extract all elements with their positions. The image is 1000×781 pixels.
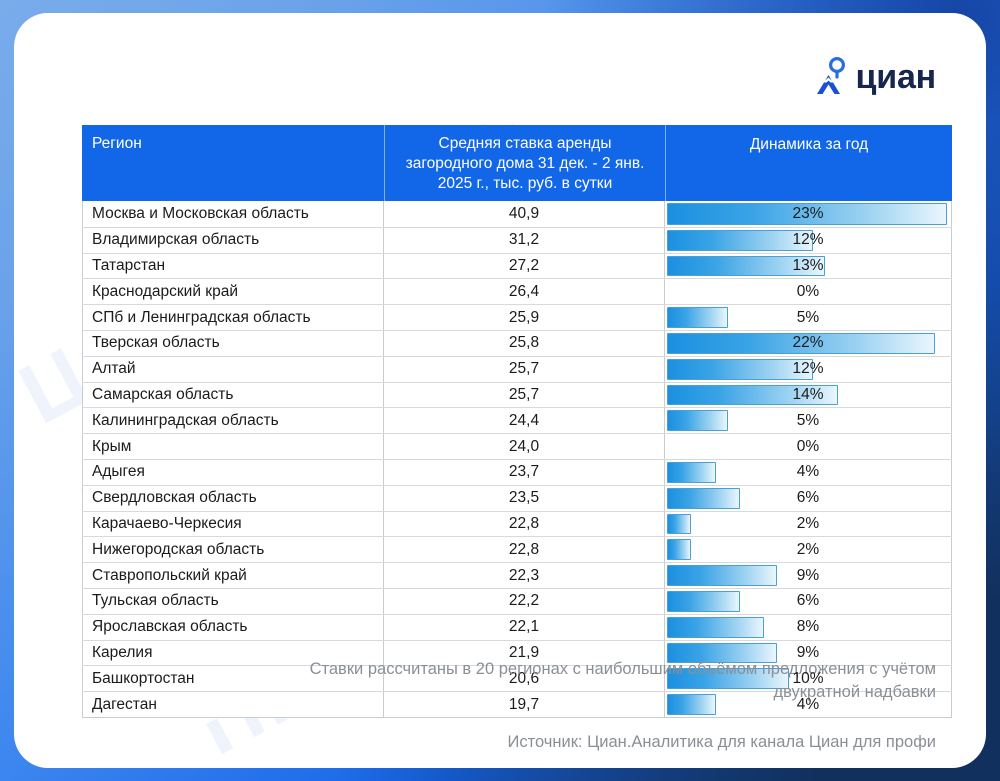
table-row: Калининградская область24,45% (82, 407, 952, 433)
cell-rate: 22,8 (384, 512, 665, 537)
dynamics-bar (667, 617, 764, 638)
cell-region: Татарстан (82, 254, 384, 279)
dynamics-value: 22% (792, 334, 823, 352)
cell-rate: 40,9 (384, 201, 665, 227)
cell-dynamics: 0% (665, 279, 952, 304)
table-row: Адыгея23,74% (82, 459, 952, 485)
dynamics-value: 6% (797, 592, 819, 610)
infographic-root: циан Циан Циан Циан Циан Циан Циан Циан … (0, 0, 1000, 781)
dynamics-bar (667, 514, 691, 535)
column-header-region: Регион (82, 125, 384, 201)
cell-dynamics: 6% (665, 589, 952, 614)
cell-dynamics: 0% (665, 434, 952, 459)
table-row: Татарстан27,213% (82, 253, 952, 279)
cell-rate: 25,7 (384, 383, 665, 408)
dynamics-bar (667, 410, 728, 431)
cell-rate: 23,7 (384, 460, 665, 485)
cell-dynamics: 4% (665, 460, 952, 485)
table-header-row: Регион Средняя ставка аренды загородного… (82, 125, 952, 201)
cell-rate: 22,2 (384, 589, 665, 614)
cell-region: Свердловская область (82, 486, 384, 511)
dynamics-bar (667, 307, 728, 328)
column-header-rate: Средняя ставка аренды загородного дома 3… (384, 125, 665, 201)
cell-region: Алтай (82, 357, 384, 382)
cell-region: Карачаево-Черкесия (82, 512, 384, 537)
footnotes: Ставки рассчитаны в 20 регионах с наибол… (276, 658, 936, 754)
dynamics-value: 8% (797, 618, 819, 636)
cell-rate: 23,5 (384, 486, 665, 511)
rates-table: Регион Средняя ставка аренды загородного… (82, 125, 952, 718)
table-body: Москва и Московская область40,923%Владим… (82, 201, 952, 718)
content-card: циан Циан Циан Циан Циан Циан Циан Циан … (14, 13, 986, 768)
source-note: Источник: Циан.Аналитика для канала Циан… (276, 731, 936, 754)
cell-dynamics: 22% (665, 331, 952, 356)
table-row: Самарская область25,714% (82, 382, 952, 408)
table-row: Карачаево-Черкесия22,82% (82, 511, 952, 537)
cell-rate: 24,4 (384, 408, 665, 433)
table-row: Ставропольский край22,39% (82, 562, 952, 588)
dynamics-value: 2% (797, 541, 819, 559)
dynamics-value: 4% (797, 696, 819, 714)
cell-rate: 22,8 (384, 537, 665, 562)
dynamics-value: 2% (797, 515, 819, 533)
dynamics-value: 0% (797, 283, 819, 301)
dynamics-value: 4% (797, 463, 819, 481)
cell-dynamics: 14% (665, 383, 952, 408)
dynamics-value: 0% (797, 438, 819, 456)
table-row: Крым24,00% (82, 433, 952, 459)
dynamics-bar (667, 565, 777, 586)
cell-rate: 25,8 (384, 331, 665, 356)
dynamics-value: 12% (792, 231, 823, 249)
table-row: Тверская область25,822% (82, 330, 952, 356)
cian-logo: циан (813, 57, 936, 97)
cell-region: Калининградская область (82, 408, 384, 433)
cell-rate: 31,2 (384, 228, 665, 253)
cell-dynamics: 2% (665, 512, 952, 537)
table-row: СПб и Ленинградская область25,95% (82, 304, 952, 330)
table-row: Владимирская область31,212% (82, 227, 952, 253)
cell-region: Нижегородская область (82, 537, 384, 562)
table-row: Ярославская область22,18% (82, 614, 952, 640)
column-header-dynamics: Динамика за год (665, 125, 952, 201)
methodology-note: Ставки рассчитаны в 20 регионах с наибол… (276, 658, 936, 705)
table-row: Нижегородская область22,82% (82, 536, 952, 562)
cell-region: Адыгея (82, 460, 384, 485)
cell-dynamics: 2% (665, 537, 952, 562)
dynamics-bar (667, 591, 740, 612)
cell-dynamics: 5% (665, 305, 952, 330)
cell-dynamics: 12% (665, 228, 952, 253)
cell-region: Тверская область (82, 331, 384, 356)
cell-dynamics: 12% (665, 357, 952, 382)
dynamics-value: 6% (797, 489, 819, 507)
dynamics-value: 13% (792, 257, 823, 275)
cell-region: Самарская область (82, 383, 384, 408)
dynamics-value: 9% (797, 644, 819, 662)
cian-wordmark: циан (856, 60, 936, 94)
cell-dynamics: 23% (665, 201, 952, 227)
dynamics-bar (667, 539, 691, 560)
cell-region: Тульская область (82, 589, 384, 614)
cell-rate: 24,0 (384, 434, 665, 459)
cell-rate: 22,3 (384, 563, 665, 588)
cell-rate: 25,7 (384, 357, 665, 382)
cell-region: Крым (82, 434, 384, 459)
cell-dynamics: 6% (665, 486, 952, 511)
cell-region: Москва и Московская область (82, 201, 384, 227)
dynamics-bar (667, 462, 716, 483)
cell-dynamics: 8% (665, 615, 952, 640)
dynamics-value: 12% (792, 360, 823, 378)
dynamics-bar (667, 230, 813, 251)
cell-dynamics: 5% (665, 408, 952, 433)
cell-rate: 22,1 (384, 615, 665, 640)
cell-region: Ярославская область (82, 615, 384, 640)
dynamics-value: 9% (797, 567, 819, 585)
cell-region: Краснодарский край (82, 279, 384, 304)
cell-region: СПб и Ленинградская область (82, 305, 384, 330)
table-row: Свердловская область23,56% (82, 485, 952, 511)
table-row: Алтай25,712% (82, 356, 952, 382)
table-row: Краснодарский край26,40% (82, 278, 952, 304)
cell-rate: 25,9 (384, 305, 665, 330)
cell-region: Ставропольский край (82, 563, 384, 588)
cell-rate: 27,2 (384, 254, 665, 279)
dynamics-value: 23% (792, 205, 823, 223)
dynamics-bar (667, 359, 813, 380)
dynamics-value: 14% (792, 386, 823, 404)
cell-rate: 26,4 (384, 279, 665, 304)
table-row: Тульская область22,26% (82, 588, 952, 614)
dynamics-bar (667, 488, 740, 509)
cian-person-pin-icon (813, 57, 849, 97)
dynamics-value: 5% (797, 309, 819, 327)
dynamics-value: 10% (792, 670, 823, 688)
table-row: Москва и Московская область40,923% (82, 201, 952, 227)
cell-dynamics: 13% (665, 254, 952, 279)
cell-region: Владимирская область (82, 228, 384, 253)
dynamics-value: 5% (797, 412, 819, 430)
cell-dynamics: 9% (665, 563, 952, 588)
